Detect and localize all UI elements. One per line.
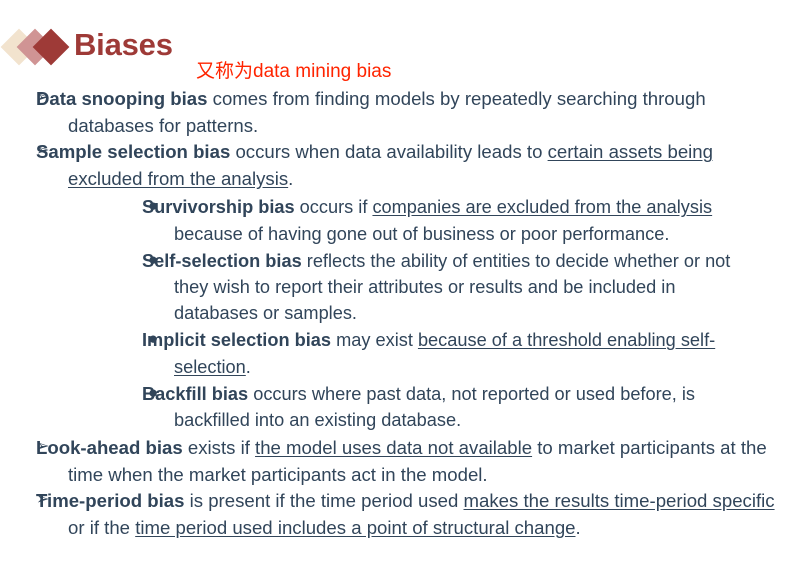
term-tail: . [288,168,293,189]
term-label: Time-period bias [36,490,184,511]
arrow-bullet-icon: ➢ [36,489,49,512]
term-underlined: companies are excluded from the analysis [372,197,712,217]
term-underlined: the model uses data not available [255,437,532,458]
list-item-backfill-bias: ●Backfill bias occurs where past data, n… [68,381,780,433]
term-label: Self-selection bias [142,251,302,271]
slide-body: ➢Data snooping bias comes from finding m… [0,86,804,541]
list-item-sample-selection-bias: ➢Sample selection bias occurs when data … [0,139,804,433]
term-description: occurs where past data, not reported or … [174,384,695,430]
term-underlined: makes the results time-period specific [464,490,775,511]
arrow-bullet-icon: ➢ [36,140,49,163]
dot-bullet-icon: ● [148,327,158,351]
term-underlined-2: time period used includes a point of str… [135,517,575,538]
bias-list: ➢Data snooping bias comes from finding m… [0,86,804,541]
term-description: is present if the time period used [184,490,463,511]
dot-bullet-icon: ● [148,194,158,218]
list-item-data-snooping-bias: ➢Data snooping bias comes from finding m… [0,86,804,139]
term-tail: because of having gone out of business o… [174,224,669,244]
sub-bias-list: ●Survivorship bias occurs if companies a… [68,194,780,433]
term-description: exists if [183,437,255,458]
term-tail-2: . [576,517,581,538]
term-tail: . [246,357,251,377]
term-description: occurs if [295,197,373,217]
arrow-bullet-icon: ➢ [36,87,49,110]
diamond-cluster-icon [4,27,76,69]
term-label: Look-ahead bias [36,437,183,458]
term-label: Survivorship bias [142,197,295,217]
list-item-time-period-bias: ➢Time-period bias is present if the time… [0,488,804,541]
term-description: may exist [331,330,418,350]
list-item-self-selection-bias: ●Self-selection bias reflects the abilit… [68,248,780,327]
term-label: Sample selection bias [36,141,230,162]
list-item-look-ahead-bias: ➢Look-ahead bias exists if the model use… [0,435,804,488]
list-item-survivorship-bias: ●Survivorship bias occurs if companies a… [68,194,780,246]
arrow-bullet-icon: ➢ [36,436,49,459]
dot-bullet-icon: ● [148,248,158,272]
dot-bullet-icon: ● [148,381,158,405]
page-title: Biases [74,28,173,62]
red-annotation-note: 又称为data mining bias [196,62,391,83]
slide-header: Biases 又称为data mining bias [0,0,804,62]
term-label: Implicit selection bias [142,330,331,350]
term-description: occurs when data availability leads to [230,141,547,162]
list-item-implicit-selection-bias: ●Implicit selection bias may exist becau… [68,327,780,379]
term-label: Data snooping bias [36,88,208,109]
term-tail: or if the [68,517,135,538]
